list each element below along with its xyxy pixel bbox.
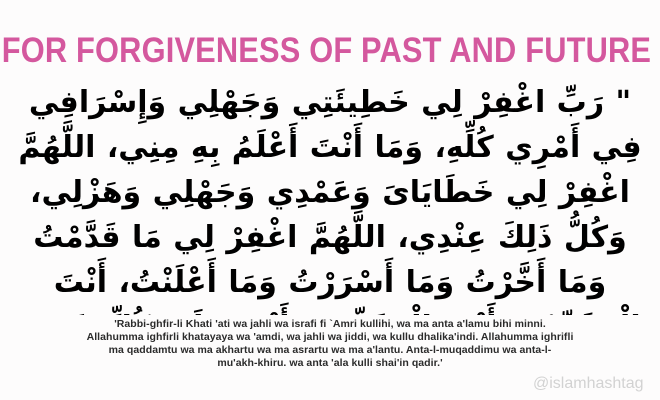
transliteration-text: 'Rabbi-ghfir-li Khati 'ati wa jahli wa i…: [22, 318, 638, 370]
transliteration-line: 'Rabbi-ghfir-li Khati 'ati wa jahli wa i…: [22, 318, 638, 331]
dua-poster: DUA FOR FORGIVENESS OF PAST AND FUTURE S…: [0, 0, 660, 400]
watermark-handle: @islamhashtag: [533, 372, 660, 396]
poster-title-bar: DUA FOR FORGIVENESS OF PAST AND FUTURE S…: [0, 28, 660, 74]
transliteration-line: Allahumma ighfirli khatayaya wa 'amdi, w…: [22, 331, 638, 344]
transliteration-line: ma qaddamtu wa ma akhartu wa ma asrartu …: [22, 344, 638, 357]
page-title: DUA FOR FORGIVENESS OF PAST AND FUTURE S…: [0, 31, 660, 71]
transliteration-line: mu'akh-khiru. wa anta 'ala kulli shai'in…: [22, 357, 638, 370]
arabic-dua-text: " رَبِّ اغْفِرْ لِي خَطِيئَتِي وَجَهْلِي…: [18, 80, 642, 315]
